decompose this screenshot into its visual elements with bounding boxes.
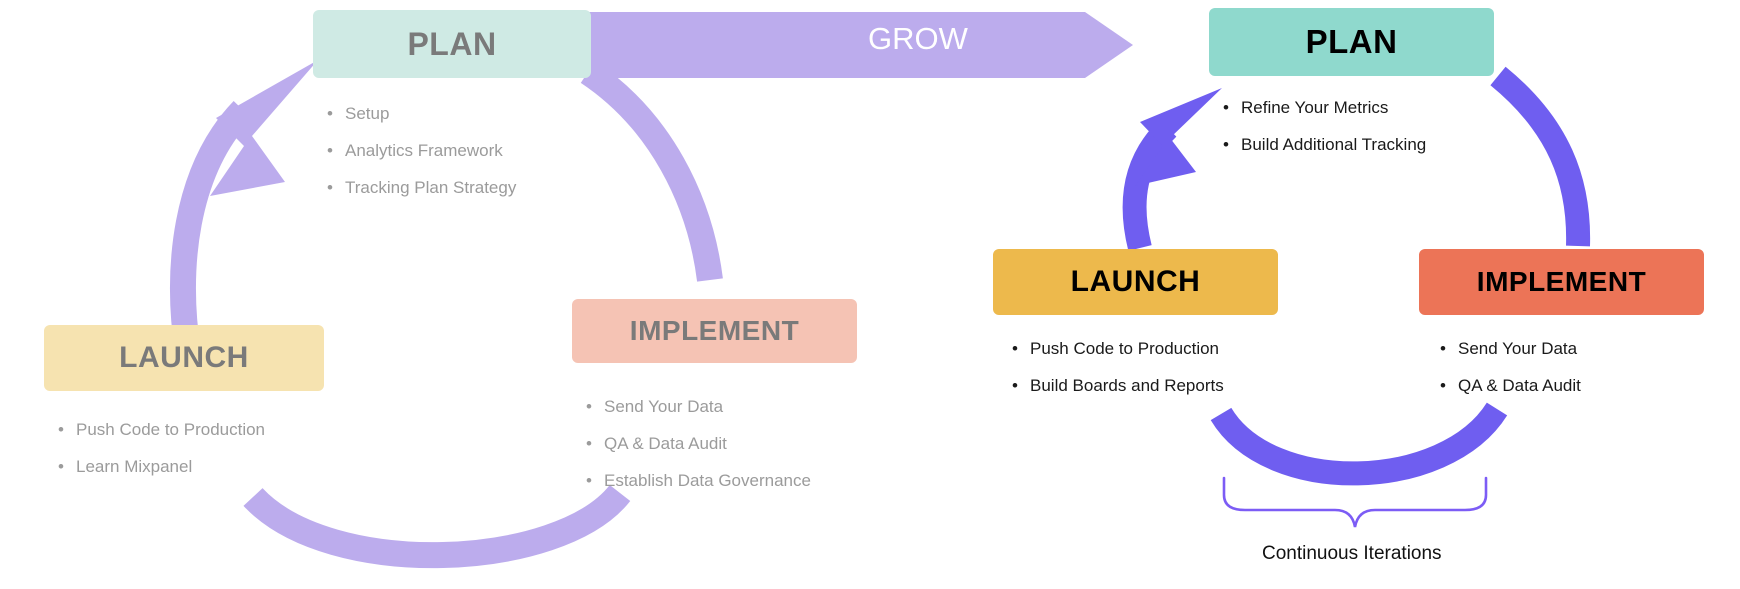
bullet-icon: •: [1440, 367, 1458, 404]
list-item: • Refine Your Metrics: [1223, 89, 1426, 126]
list-item: • Establish Data Governance: [586, 462, 811, 499]
node-implement-past[interactable]: IMPLEMENT: [572, 299, 857, 363]
list-item: • Send Your Data: [586, 388, 811, 425]
arrow-launch-to-plan-vivid: [1135, 88, 1222, 248]
arrow-implement-to-launch-vivid: [1221, 409, 1497, 473]
arrow-launch-to-plan-faded: [183, 60, 318, 352]
list-item: • Build Additional Tracking: [1223, 126, 1426, 163]
bullet-icon: •: [327, 95, 345, 132]
node-plan-present-bullets: • Refine Your Metrics • Build Additional…: [1223, 89, 1426, 163]
bullet-icon: •: [1223, 126, 1241, 163]
arrow-plan-to-implement-faded: [588, 72, 710, 280]
list-item-label: Send Your Data: [1458, 330, 1577, 367]
arrow-implement-to-launch-faded: [253, 493, 620, 555]
bullet-icon: •: [327, 132, 345, 169]
list-item: • QA & Data Audit: [586, 425, 811, 462]
curly-brace-icon: [1224, 478, 1486, 527]
list-item: • Tracking Plan Strategy: [327, 169, 516, 206]
list-item-label: Push Code to Production: [1030, 330, 1219, 367]
lifecycle-diagram: GROW PLAN • Setup • Analytics Framework …: [0, 0, 1740, 589]
list-item-label: Setup: [345, 95, 389, 132]
node-implement-present-bullets: • Send Your Data • QA & Data Audit: [1440, 330, 1581, 404]
continuous-iterations-label: Continuous Iterations: [1262, 543, 1442, 565]
list-item-label: Refine Your Metrics: [1241, 89, 1388, 126]
list-item-label: Push Code to Production: [76, 411, 265, 448]
node-launch-past[interactable]: LAUNCH: [44, 325, 324, 391]
bullet-icon: •: [586, 462, 604, 499]
bullet-icon: •: [586, 388, 604, 425]
list-item-label: Build Boards and Reports: [1030, 367, 1224, 404]
list-item: • Learn Mixpanel: [58, 448, 265, 485]
node-plan-past-bullets: • Setup • Analytics Framework • Tracking…: [327, 95, 516, 206]
bullet-icon: •: [1440, 330, 1458, 367]
list-item-label: Analytics Framework: [345, 132, 503, 169]
node-implement-past-title: IMPLEMENT: [630, 315, 799, 347]
node-plan-present-title: PLAN: [1306, 23, 1398, 61]
list-item: • QA & Data Audit: [1440, 367, 1581, 404]
node-launch-present[interactable]: LAUNCH: [993, 249, 1278, 315]
list-item: • Push Code to Production: [58, 411, 265, 448]
node-plan-past-title: PLAN: [407, 26, 496, 63]
arrow-plan-to-implement-vivid: [1498, 76, 1578, 246]
list-item: • Push Code to Production: [1012, 330, 1224, 367]
list-item-label: QA & Data Audit: [604, 425, 727, 462]
grow-arrow-banner: [588, 12, 1133, 78]
list-item: • Send Your Data: [1440, 330, 1581, 367]
node-implement-present[interactable]: IMPLEMENT: [1419, 249, 1704, 315]
list-item-label: Send Your Data: [604, 388, 723, 425]
node-launch-past-bullets: • Push Code to Production • Learn Mixpan…: [58, 411, 265, 485]
node-implement-past-bullets: • Send Your Data • QA & Data Audit • Est…: [586, 388, 811, 499]
node-launch-present-bullets: • Push Code to Production • Build Boards…: [1012, 330, 1224, 404]
bullet-icon: •: [1223, 89, 1241, 126]
grow-label: GROW: [868, 21, 968, 57]
bullet-icon: •: [58, 411, 76, 448]
list-item: • Build Boards and Reports: [1012, 367, 1224, 404]
list-item: • Setup: [327, 95, 516, 132]
node-launch-present-title: LAUNCH: [1071, 265, 1201, 299]
node-plan-past[interactable]: PLAN: [313, 10, 591, 78]
node-implement-present-title: IMPLEMENT: [1477, 266, 1646, 298]
list-item-label: Build Additional Tracking: [1241, 126, 1426, 163]
node-launch-past-title: LAUNCH: [119, 341, 249, 375]
bullet-icon: •: [1012, 367, 1030, 404]
bullet-icon: •: [586, 425, 604, 462]
list-item-label: Establish Data Governance: [604, 462, 811, 499]
list-item: • Analytics Framework: [327, 132, 516, 169]
bullet-icon: •: [1012, 330, 1030, 367]
list-item-label: Learn Mixpanel: [76, 448, 192, 485]
node-plan-present[interactable]: PLAN: [1209, 8, 1494, 76]
list-item-label: QA & Data Audit: [1458, 367, 1581, 404]
list-item-label: Tracking Plan Strategy: [345, 169, 516, 206]
bullet-icon: •: [58, 448, 76, 485]
bullet-icon: •: [327, 169, 345, 206]
